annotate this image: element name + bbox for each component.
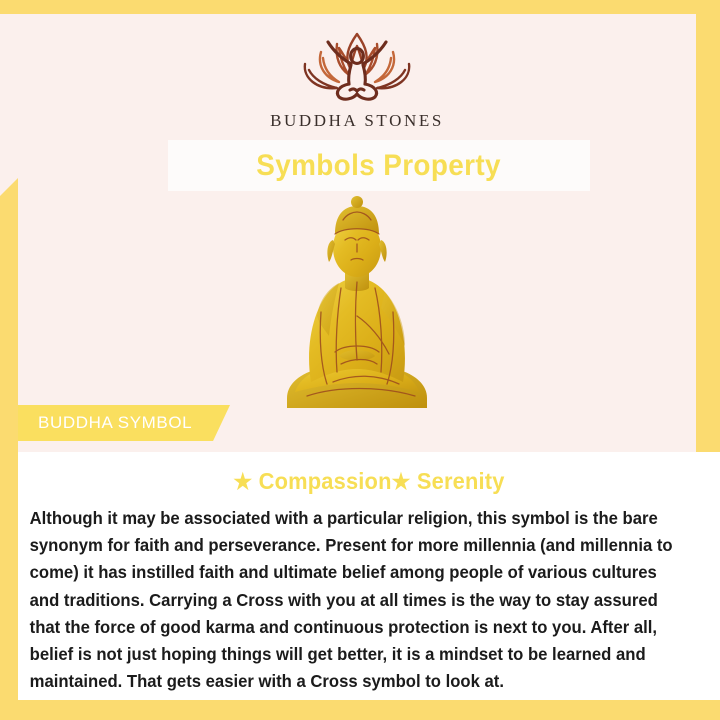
brand-name: BUDDHA STONES [270,111,444,131]
content-heading-compassion: Compassion [252,468,391,494]
golden-seated-buddha-statue [257,196,457,418]
frame-left-border [0,178,18,720]
page-title-banner: Symbols Property [168,140,590,191]
content-panel: ★ Compassion★ Serenity Although it may b… [18,452,720,700]
buddha-symbol-ribbon: BUDDHA SYMBOL [18,405,230,441]
buddha-symbol-ribbon-label: BUDDHA SYMBOL [38,413,192,433]
frame-right-border [696,0,720,470]
frame-bottom-border [0,700,720,720]
star-icon-two: ★ [392,469,411,494]
brand-logo: BUDDHA STONES [18,28,696,131]
lotus-meditation-icon [293,28,421,107]
content-heading-serenity: Serenity [411,468,505,494]
frame-top-border [0,0,720,14]
content-heading: ★ Compassion★ Serenity [36,468,703,495]
hero-section: BUDDHA STONES Symbols Property [18,14,696,452]
content-body-text: Although it may be associated with a par… [18,505,699,695]
page-title: Symbols Property [257,149,502,183]
star-icon-one: ★ [233,469,252,494]
infographic-page: BUDDHA STONES Symbols Property [0,0,720,720]
